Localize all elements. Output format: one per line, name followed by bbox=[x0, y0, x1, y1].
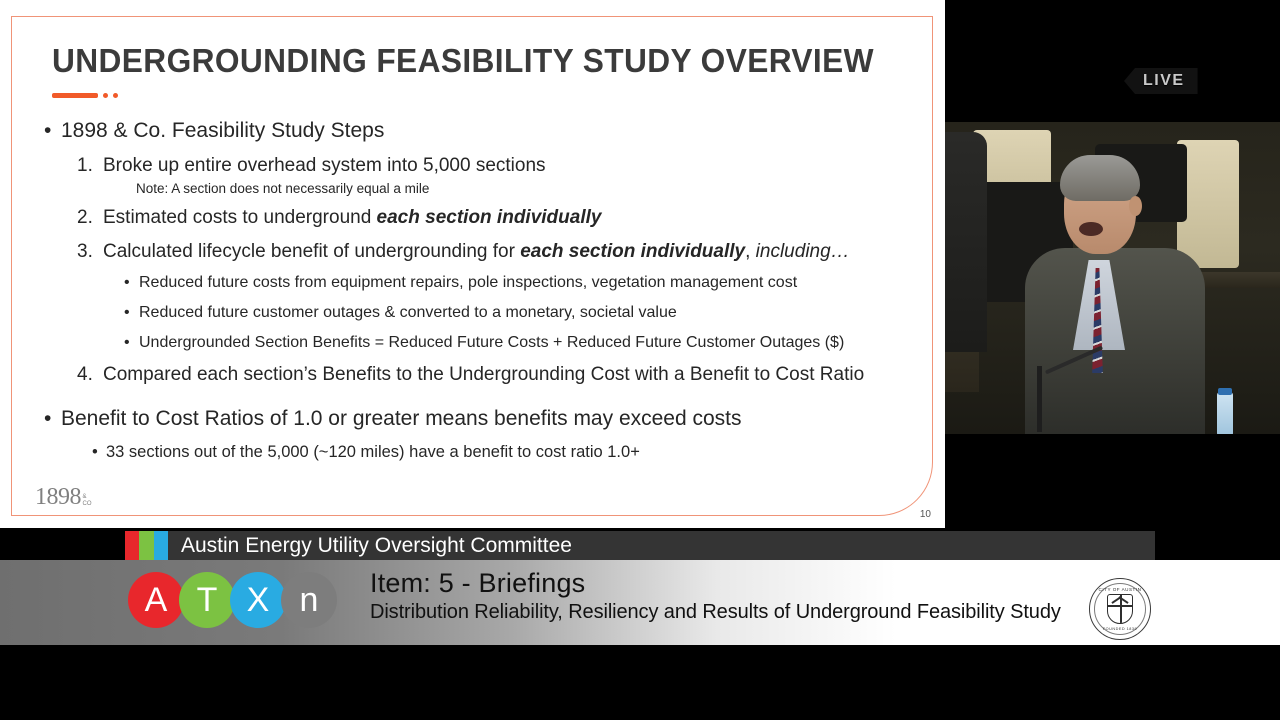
step-1-note: Note: A section does not necessarily equ… bbox=[44, 180, 924, 198]
step-4-number: 4. bbox=[77, 363, 103, 388]
microphone-stem bbox=[1037, 366, 1042, 432]
atxn-letter-x: X bbox=[230, 572, 286, 628]
live-badge: LIVE bbox=[1124, 68, 1198, 94]
color-stripes bbox=[125, 531, 168, 560]
bullet-glyph: • bbox=[44, 118, 61, 145]
bullet-glyph: • bbox=[44, 406, 61, 433]
presentation-slide: UNDERGROUNDING FEASIBILITY STUDY OVERVIE… bbox=[0, 0, 945, 528]
seal-shield-icon bbox=[1107, 594, 1133, 624]
sub-bullet-2: • Reduced future customer outages & conv… bbox=[44, 303, 924, 324]
bullet-study-steps-text: 1898 & Co. Feasibility Study Steps bbox=[61, 118, 384, 145]
accent-dash bbox=[52, 93, 98, 98]
seal-wing-right bbox=[1118, 596, 1128, 604]
bullet-benefit-ratio-text: Benefit to Cost Ratios of 1.0 or greater… bbox=[61, 406, 742, 433]
speaker-mouth bbox=[1079, 222, 1103, 236]
live-video-feed bbox=[945, 122, 1280, 434]
accent-dot-1 bbox=[103, 93, 108, 98]
seated-person-silhouette bbox=[945, 132, 987, 352]
broadcast-screen: You're sharing 1 application ▾ ⦾ ▣ Stop … bbox=[0, 0, 1280, 720]
bullet-glyph: • bbox=[124, 273, 139, 294]
step-1-text: Broke up entire overhead system into 5,0… bbox=[103, 154, 546, 179]
bullet-study-steps: • 1898 & Co. Feasibility Study Steps bbox=[44, 118, 924, 145]
step-1-number: 1. bbox=[77, 154, 103, 179]
step-3: 3. Calculated lifecycle benefit of under… bbox=[44, 240, 924, 265]
seal-top-text: CITY OF AUSTIN bbox=[1090, 587, 1150, 592]
atxn-letter-t: T bbox=[179, 572, 235, 628]
timestamp-bar: 3.25.2025 | 10:04 am bbox=[0, 645, 1280, 720]
vendor-logo-sup: &CO bbox=[83, 494, 92, 507]
step-1: 1. Broke up entire overhead system into … bbox=[44, 154, 924, 179]
live-badge-label: LIVE bbox=[1143, 72, 1185, 90]
step-2-number: 2. bbox=[77, 206, 103, 231]
step-4-text: Compared each section’s Benefits to the … bbox=[103, 363, 864, 388]
slide-title: UNDERGROUNDING FEASIBILITY STUDY OVERVIE… bbox=[52, 42, 874, 80]
item-title: Item: 5 - Briefings bbox=[370, 568, 1061, 599]
stripe-blue bbox=[154, 531, 168, 560]
seal-bottom-text: FOUNDED 1839 bbox=[1090, 627, 1150, 631]
step-3-number: 3. bbox=[77, 240, 103, 265]
vendor-logo-main: 1898 bbox=[35, 485, 81, 509]
sub-bullet-3-text: Undergrounded Section Benefits = Reduced… bbox=[139, 333, 844, 354]
atxn-logo: A T X n bbox=[128, 572, 337, 628]
stripe-green bbox=[139, 531, 153, 560]
video-pane bbox=[945, 0, 1280, 528]
committee-banner: Austin Energy Utility Oversight Committe… bbox=[125, 531, 1155, 560]
step-3-text: Calculated lifecycle benefit of undergro… bbox=[103, 240, 850, 265]
step-2: 2. Estimated costs to underground each s… bbox=[44, 206, 924, 231]
atxn-letter-n: n bbox=[281, 572, 337, 628]
speaker-ear bbox=[1129, 196, 1142, 216]
vendor-logo-1898: 1898 &CO bbox=[35, 485, 92, 509]
step-2-text: Estimated costs to underground each sect… bbox=[103, 206, 601, 231]
slide-body: • 1898 & Co. Feasibility Study Steps 1. … bbox=[44, 118, 924, 464]
bullet-33-sections: • 33 sections out of the 5,000 (~120 mil… bbox=[44, 442, 924, 463]
city-of-austin-seal: CITY OF AUSTIN FOUNDED 1839 bbox=[1089, 578, 1151, 640]
step-4: 4. Compared each section’s Benefits to t… bbox=[44, 363, 924, 388]
water-bottle-cap bbox=[1218, 388, 1232, 395]
item-subtitle: Distribution Reliability, Resiliency and… bbox=[370, 601, 1061, 624]
bullet-glyph: • bbox=[92, 442, 106, 463]
sub-bullet-3: • Undergrounded Section Benefits = Reduc… bbox=[44, 333, 924, 354]
speaker-hair bbox=[1060, 155, 1140, 201]
bullet-glyph: • bbox=[124, 303, 139, 324]
sub-bullet-2-text: Reduced future customer outages & conver… bbox=[139, 303, 677, 324]
title-accent-rule bbox=[52, 93, 118, 98]
bullet-33-sections-text: 33 sections out of the 5,000 (~120 miles… bbox=[106, 442, 640, 463]
committee-name: Austin Energy Utility Oversight Committe… bbox=[181, 534, 572, 558]
stripe-red bbox=[125, 531, 139, 560]
accent-dot-2 bbox=[113, 93, 118, 98]
atxn-letter-a: A bbox=[128, 572, 184, 628]
sub-bullet-1: • Reduced future costs from equipment re… bbox=[44, 273, 924, 294]
item-text-block: Item: 5 - Briefings Distribution Reliabi… bbox=[370, 568, 1061, 624]
slide-page-number: 10 bbox=[920, 509, 931, 520]
water-bottle bbox=[1217, 392, 1233, 434]
sub-bullet-1-text: Reduced future costs from equipment repa… bbox=[139, 273, 797, 294]
bullet-glyph: • bbox=[124, 333, 139, 354]
bullet-benefit-ratio: • Benefit to Cost Ratios of 1.0 or great… bbox=[44, 406, 924, 433]
